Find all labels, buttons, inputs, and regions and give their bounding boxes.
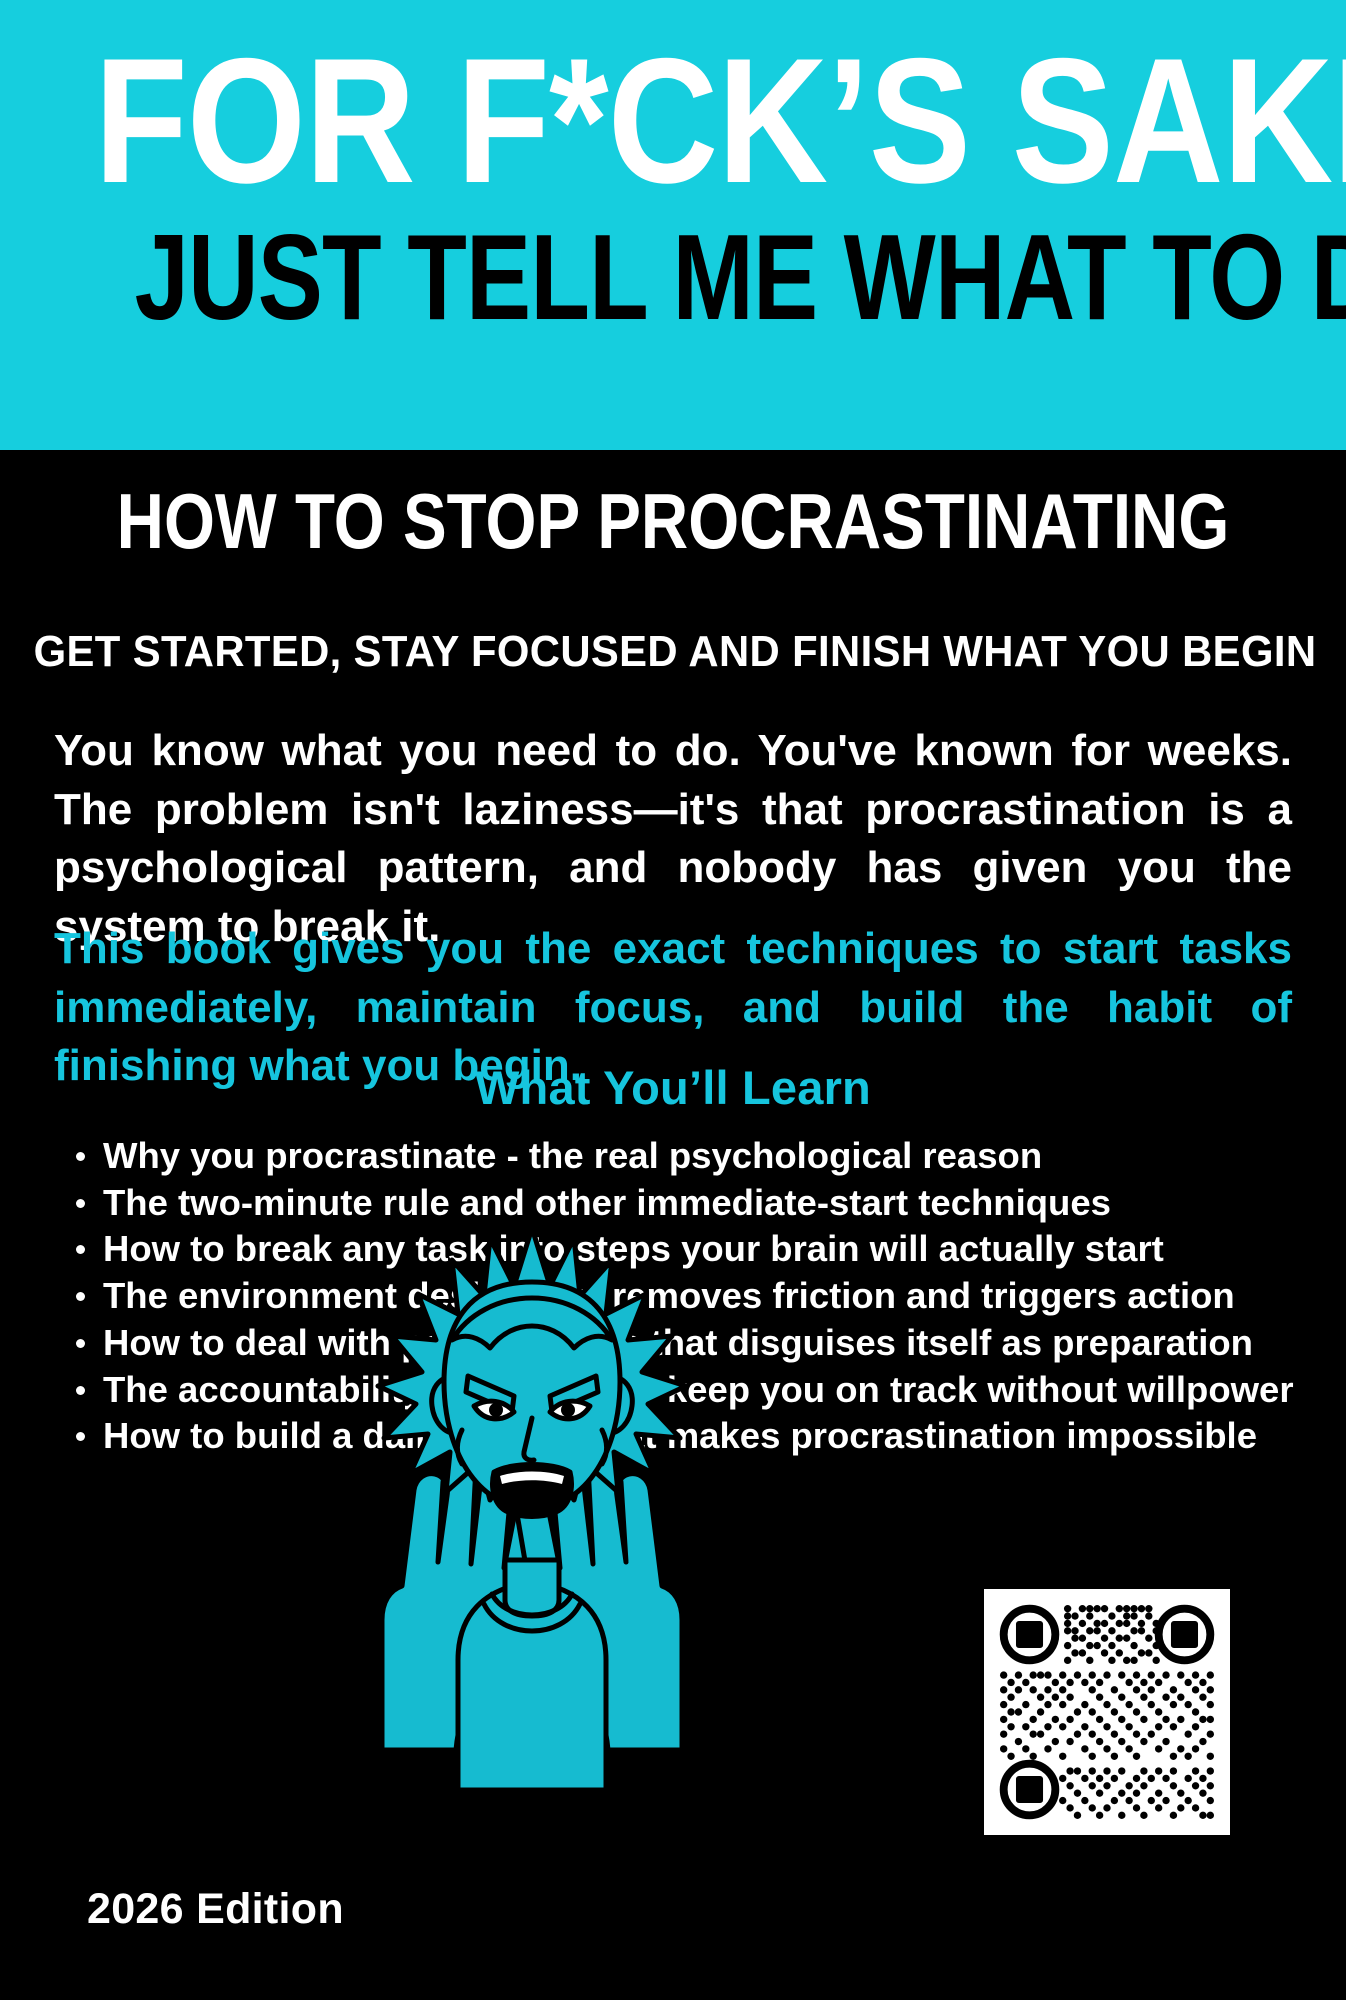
cover-subtitle: JUST TELL ME WHAT TO DO [135,216,1212,338]
page-title: HOW TO STOP PROCRASTINATING [108,482,1239,560]
header-band: FOR F*CK’S SAKE JUST TELL ME WHAT TO DO [0,0,1346,450]
cover-title: FOR F*CK’S SAKE [94,38,1252,204]
what-you-will-learn-heading: What You’ll Learn [0,1060,1346,1115]
frustrated-person-icon [262,1190,802,1790]
book-cover: FOR F*CK’S SAKE JUST TELL ME WHAT TO DO … [0,0,1346,2000]
list-item: Why you procrastinate - the real psychol… [72,1133,1282,1180]
edition-label: 2026 Edition [87,1885,344,1934]
qr-code[interactable] [984,1589,1230,1835]
tagline: GET STARTED, STAY FOCUSED AND FINISH WHA… [34,627,1313,677]
